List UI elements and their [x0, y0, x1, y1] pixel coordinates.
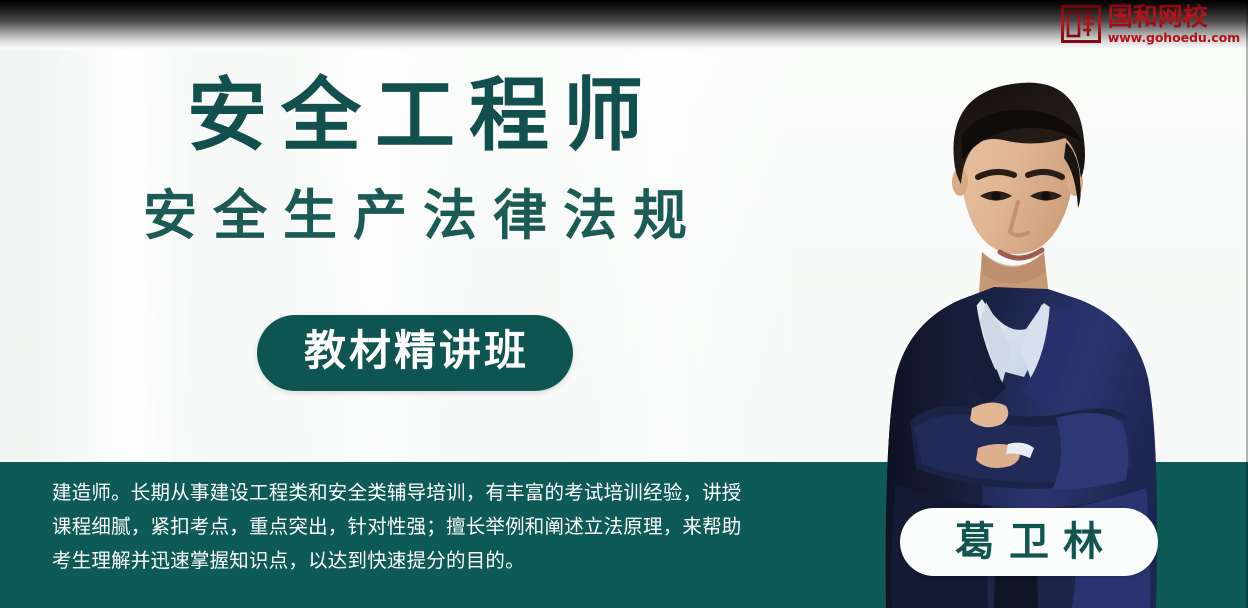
course-badge-container: 教材精讲班	[0, 315, 830, 391]
bio-line: 课程细腻，紧扣考点，重点突出，针对性强；擅长举例和阐述立法原理，来帮助	[52, 510, 827, 544]
bio-line: 建造师。长期从事建设工程类和安全类辅导培训，有丰富的考试培训经验，讲授	[52, 476, 827, 510]
instructor-bio: 建造师。长期从事建设工程类和安全类辅导培训，有丰富的考试培训经验，讲授 课程细腻…	[52, 476, 827, 578]
course-banner: 国和网校 www.gohoedu.com 安全工程师 安全生产法律法规 教材精讲…	[0, 0, 1248, 608]
brand-logo[interactable]: 国和网校 www.gohoedu.com	[1061, 4, 1240, 45]
seal-stamp-icon	[1061, 5, 1101, 43]
bio-line: 考生理解并迅速掌握知识点，以达到快速提分的目的。	[52, 544, 827, 578]
hero-heading-group: 安全工程师 安全生产法律法规	[0, 74, 830, 245]
page-title: 安全工程师	[0, 74, 830, 158]
page-subtitle: 安全生产法律法规	[0, 186, 830, 245]
brand-website: www.gohoedu.com	[1108, 32, 1240, 45]
brand-name: 国和网校	[1108, 4, 1208, 29]
course-type-badge[interactable]: 教材精讲班	[257, 315, 573, 391]
instructor-name: 葛卫林	[941, 522, 1117, 562]
instructor-name-badge: 葛卫林	[900, 508, 1158, 576]
